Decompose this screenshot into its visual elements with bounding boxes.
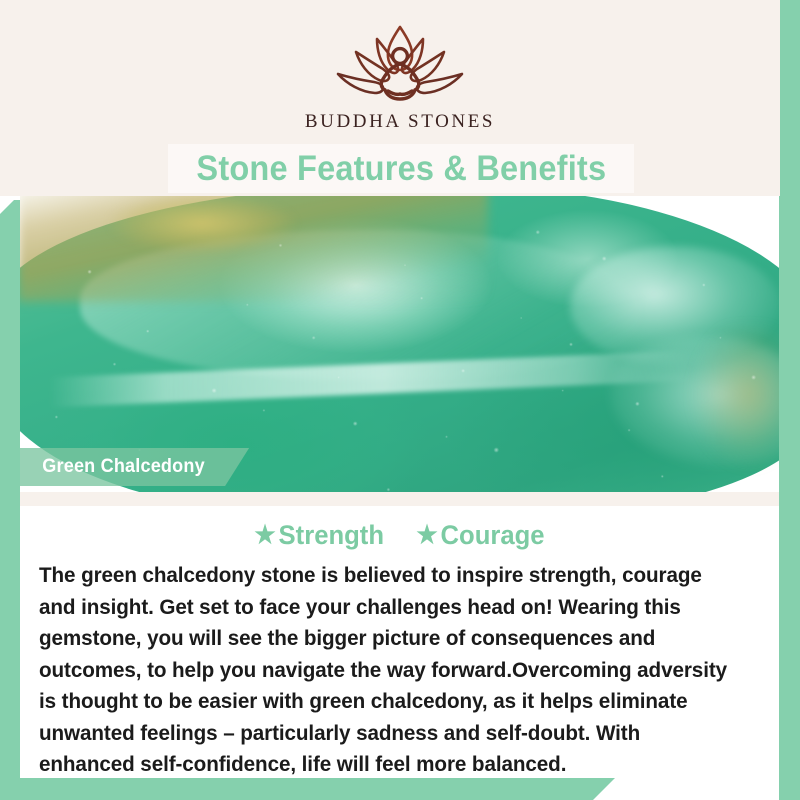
stone-name-label: Green Chalcedony [42,456,205,478]
photo-underline [20,492,779,506]
stone-name-badge: Green Chalcedony [20,448,249,486]
benefit-heading-strength: ★ Strength [254,520,384,551]
stone-photo-surface [20,196,779,492]
star-icon: ★ [254,523,275,548]
benefit-heading-row: ★ Strength ★ Courage [20,506,779,551]
brand-logo: BUDDHA STONES [0,22,800,133]
lotus-meditation-figure-icon [325,22,475,108]
decor-left-accent-bar [0,200,20,800]
benefit-heading-label: Strength [278,520,383,551]
benefit-heading-courage: ★ Courage [417,520,545,551]
star-icon: ★ [417,523,438,548]
poster-root: BUDDHA STONES Stone Features & Benefits … [0,0,800,800]
brand-name: BUDDHA STONES [305,111,495,133]
benefits-section: ★ Strength ★ Courage The green chalcedon… [20,506,779,778]
decor-bottom-accent-bar [0,778,615,800]
stone-photo [20,196,779,492]
title-banner: Stone Features & Benefits [168,144,634,193]
benefits-description: The green chalcedony stone is believed t… [39,560,738,781]
stone-speckles [20,196,779,492]
benefit-heading-label: Courage [441,520,545,551]
page-title: Stone Features & Benefits [196,149,606,189]
